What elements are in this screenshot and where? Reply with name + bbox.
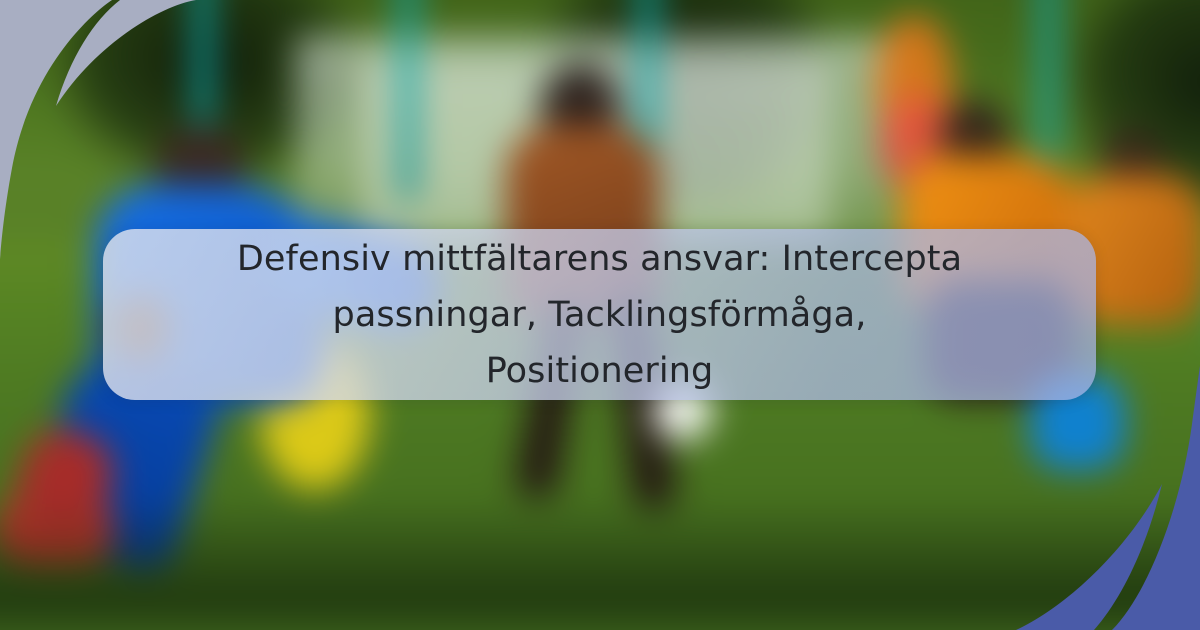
page-title: Defensiv mittfältarens ansvar: Intercept…	[174, 231, 1026, 399]
share-card-canvas: Defensiv mittfältarens ansvar: Intercept…	[0, 0, 1200, 630]
title-card: Defensiv mittfältarens ansvar: Intercept…	[103, 229, 1096, 400]
background-post-2	[400, 0, 416, 200]
background-grass-shadow	[0, 500, 1200, 620]
